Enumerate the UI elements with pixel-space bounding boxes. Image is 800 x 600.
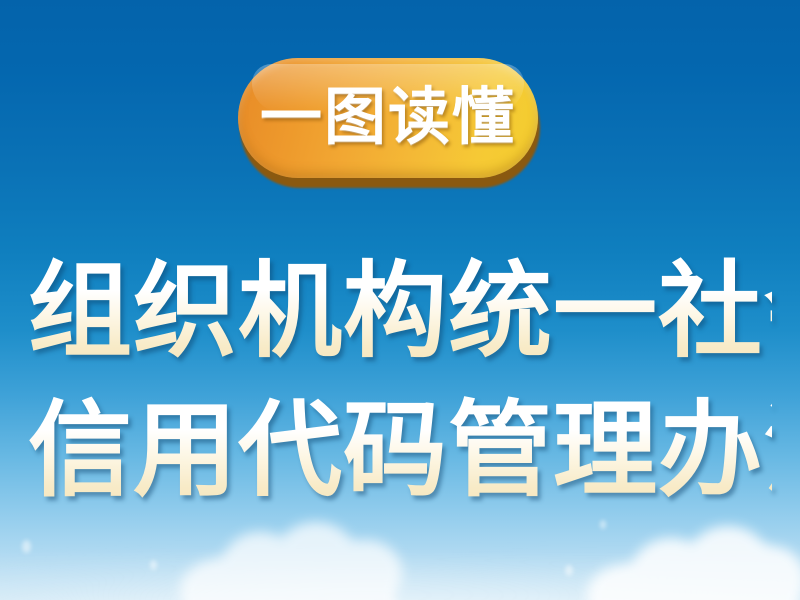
header-badge: 一图读懂	[238, 58, 542, 188]
headline-line-2: 信用代码管理办法	[28, 382, 772, 521]
cloud-speck	[22, 540, 31, 553]
cloud-puff	[222, 532, 298, 600]
poster-canvas: 一图读懂 组织机构统一社会 信用代码管理办法	[0, 0, 800, 600]
cloud-speck	[565, 565, 573, 576]
badge-label: 一图读懂	[260, 87, 516, 149]
cloud-puff	[631, 538, 711, 600]
cloud-puff	[330, 540, 402, 600]
badge-pill: 一图读懂	[238, 58, 538, 178]
cloud-puff	[274, 522, 358, 600]
cloud-speck	[150, 560, 157, 570]
cloud-haze	[0, 550, 800, 600]
page-title: 组织机构统一社会 信用代码管理办法	[28, 243, 772, 522]
cloud-base	[597, 574, 797, 600]
cloud-puff	[587, 564, 671, 600]
cloud-puff	[180, 558, 270, 600]
cloud-puff	[685, 526, 771, 600]
cloud-icon-right	[585, 520, 800, 600]
headline-line-1: 组织机构统一社会	[28, 243, 772, 382]
cloud-base	[188, 570, 396, 600]
cloud-icon-left	[170, 518, 410, 600]
cloud-puff	[737, 546, 800, 600]
